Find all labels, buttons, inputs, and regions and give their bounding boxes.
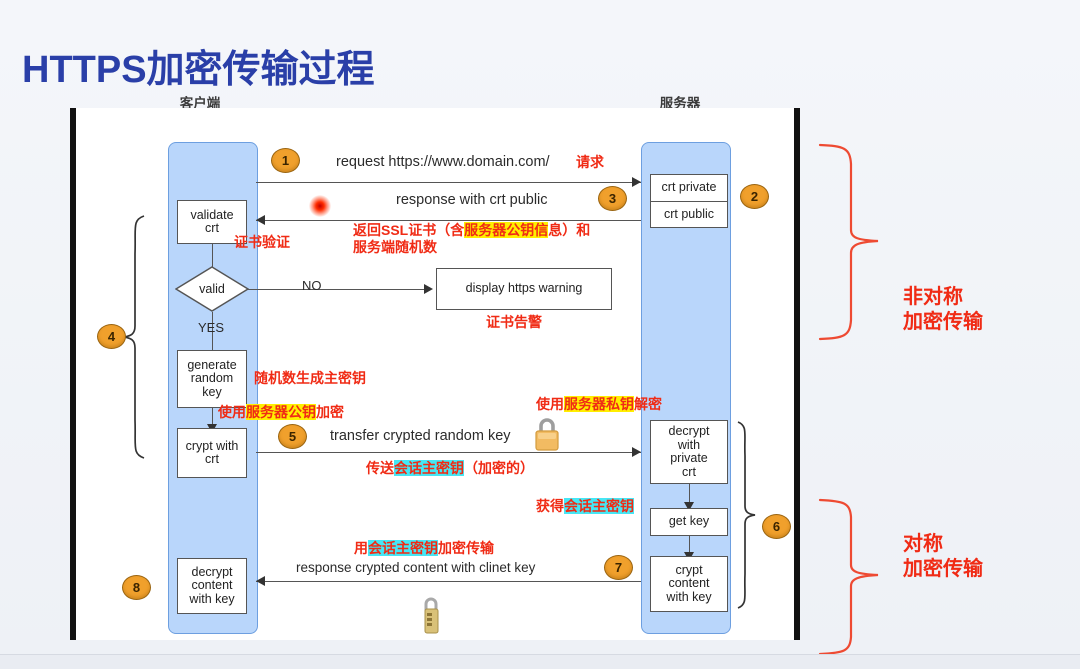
box-display-https-warning: display https warning bbox=[436, 268, 612, 310]
box-decrypt-private-l1: decrypt bbox=[669, 425, 710, 439]
branch-no-label: NO bbox=[302, 278, 322, 293]
box-decrypt-content-l3: with key bbox=[189, 593, 234, 607]
step-badge-3: 3 bbox=[598, 186, 627, 211]
padlock-gold-shape bbox=[531, 416, 563, 452]
box-generate-random-key-l3: key bbox=[202, 386, 221, 400]
arrow-transfer-line bbox=[256, 452, 641, 453]
red-brace-symmetric bbox=[818, 497, 898, 657]
slide-canvas: HTTPS加密传输过程 客户端 Client 服务器 Server valida… bbox=[0, 0, 1080, 669]
arrow-transfer-head bbox=[632, 447, 641, 457]
label-symmetric-l1: 对称 bbox=[903, 533, 943, 555]
annotation-random-master-key: 随机数生成主密钥 bbox=[254, 370, 366, 387]
annotation-send-session-p1: 传送 bbox=[366, 460, 394, 476]
box-crt-public: crt public bbox=[650, 201, 728, 228]
arrow-response-line bbox=[256, 220, 641, 221]
label-transfer-key: transfer crypted random key bbox=[330, 428, 511, 444]
label-symmetric-l2: 加密传输 bbox=[903, 558, 983, 580]
box-validate-crt-line2: crt bbox=[205, 222, 219, 236]
box-decrypt-content-l1: decrypt bbox=[192, 566, 233, 580]
padlock-gold-icon bbox=[531, 416, 563, 457]
label-asymmetric-transport: 非对称 加密传输 bbox=[903, 285, 983, 335]
slide-bottom-bar bbox=[0, 654, 1080, 669]
diagram-frame: validate crt valid NO display https warn… bbox=[70, 108, 800, 640]
box-generate-random-key-l2: random bbox=[191, 372, 233, 386]
brace-step-6-shape bbox=[736, 420, 758, 610]
label-request-cn: 请求 bbox=[576, 154, 604, 171]
annotation-ssl-return-p1: 返回SSL证书（含 bbox=[353, 222, 464, 238]
box-crypt-with-crt-l2: crt bbox=[205, 453, 219, 467]
box-generate-random-key-l1: generate bbox=[187, 359, 236, 373]
box-get-key: get key bbox=[650, 508, 728, 536]
box-crypt-content-with-key: crypt content with key bbox=[650, 556, 728, 612]
decision-valid: valid bbox=[175, 266, 249, 312]
box-crt-private: crt private bbox=[650, 174, 728, 201]
box-crypt-with-crt-l1: crypt with bbox=[186, 440, 239, 454]
annotation-ssl-return-hl: 服务器公钥信 bbox=[464, 222, 548, 238]
step-badge-8: 8 bbox=[122, 575, 151, 600]
step-badge-6: 6 bbox=[762, 514, 791, 539]
annotation-validate-crt: 证书验证 bbox=[234, 234, 290, 251]
step-badge-4: 4 bbox=[97, 324, 126, 349]
annotation-use-server-private: 使用服务器私钥解密 bbox=[536, 396, 662, 413]
connector-validate-to-valid bbox=[212, 244, 213, 268]
padlock-brass-shape bbox=[416, 593, 446, 637]
annotation-use-pub-p2: 加密 bbox=[316, 404, 344, 420]
box-decrypt-private-l2: with bbox=[678, 439, 700, 453]
annotation-ssl-return: 返回SSL证书（含服务器公钥信息）和服务端随机数 bbox=[353, 222, 593, 256]
box-crt-public-label: crt public bbox=[664, 208, 714, 222]
red-brace-symmetric-shape bbox=[818, 497, 898, 657]
annotation-send-session-hl: 会话主密钥 bbox=[394, 460, 464, 476]
box-validate-crt-line1: validate bbox=[190, 209, 233, 223]
decision-valid-label: valid bbox=[175, 266, 249, 312]
red-brace-asymmetric bbox=[818, 142, 898, 342]
arrow-response-content-head bbox=[256, 576, 265, 586]
label-request: request https://www.domain.com/ bbox=[336, 154, 550, 170]
box-crypt-content-l2: content bbox=[668, 577, 709, 591]
laser-pointer-dot bbox=[309, 195, 331, 217]
box-decrypt-with-private-crt: decrypt with private crt bbox=[650, 420, 728, 484]
page-title: HTTPS加密传输过程 bbox=[22, 38, 375, 93]
brace-step-6 bbox=[736, 420, 758, 615]
arrow-response-content-line bbox=[256, 581, 641, 582]
annotation-use-session-p2: 加密传输 bbox=[438, 540, 494, 556]
annotation-use-pub-hl: 服务器公钥 bbox=[246, 404, 316, 420]
branch-no-arrow bbox=[424, 284, 433, 294]
box-crt-private-label: crt private bbox=[662, 181, 717, 195]
box-crypt-content-l1: crypt bbox=[675, 564, 702, 578]
box-decrypt-content-l2: content bbox=[191, 579, 232, 593]
step-badge-1: 1 bbox=[271, 148, 300, 173]
brace-step-4 bbox=[122, 214, 148, 465]
annotation-get-session-hl: 会话主密钥 bbox=[564, 498, 634, 514]
annotation-use-session-p1: 用 bbox=[354, 540, 368, 556]
step-badge-2: 2 bbox=[740, 184, 769, 209]
step-badge-7: 7 bbox=[604, 555, 633, 580]
label-asymmetric-l1: 非对称 bbox=[903, 286, 963, 308]
annotation-use-priv-hl: 服务器私钥 bbox=[564, 396, 634, 412]
step-badge-5: 5 bbox=[278, 424, 307, 449]
red-brace-asymmetric-shape bbox=[818, 142, 898, 342]
box-decrypt-content-with-key: decrypt content with key bbox=[177, 558, 247, 614]
annotation-send-session-p2: （加密的） bbox=[464, 460, 534, 476]
box-crypt-content-l3: with key bbox=[666, 591, 711, 605]
box-crypt-with-crt: crypt with crt bbox=[177, 428, 247, 478]
annotation-send-session-key: 传送会话主密钥（加密的） bbox=[366, 460, 534, 477]
arrow-request-head bbox=[632, 177, 641, 187]
branch-no-line bbox=[248, 289, 424, 290]
annotation-use-server-public: 使用服务器公钥加密 bbox=[218, 404, 344, 421]
annotation-use-priv-p2: 解密 bbox=[634, 396, 662, 412]
annotation-get-session-p1: 获得 bbox=[536, 498, 564, 514]
arrow-request-line bbox=[256, 182, 641, 183]
arrow-response-head bbox=[256, 215, 265, 225]
label-asymmetric-l2: 加密传输 bbox=[903, 311, 983, 333]
branch-yes-label: YES bbox=[198, 320, 224, 335]
annotation-use-pub-p1: 使用 bbox=[218, 404, 246, 420]
annotation-cert-warning: 证书告警 bbox=[486, 314, 542, 331]
annotation-use-session-key: 用会话主密钥加密传输 bbox=[354, 540, 494, 557]
box-decrypt-private-l3: private bbox=[670, 452, 708, 466]
annotation-use-session-hl: 会话主密钥 bbox=[368, 540, 438, 556]
box-decrypt-private-l4: crt bbox=[682, 466, 696, 480]
label-response-content: response crypted content with clinet key bbox=[296, 560, 535, 575]
annotation-get-session-key: 获得会话主密钥 bbox=[536, 498, 634, 515]
box-get-key-label: get key bbox=[669, 515, 709, 529]
box-display-https-warning-label: display https warning bbox=[466, 282, 583, 296]
label-response-crt: response with crt public bbox=[396, 192, 548, 208]
padlock-brass-icon bbox=[416, 593, 446, 642]
label-symmetric-transport: 对称 加密传输 bbox=[903, 532, 983, 582]
annotation-use-priv-p1: 使用 bbox=[536, 396, 564, 412]
box-generate-random-key: generate random key bbox=[177, 350, 247, 408]
